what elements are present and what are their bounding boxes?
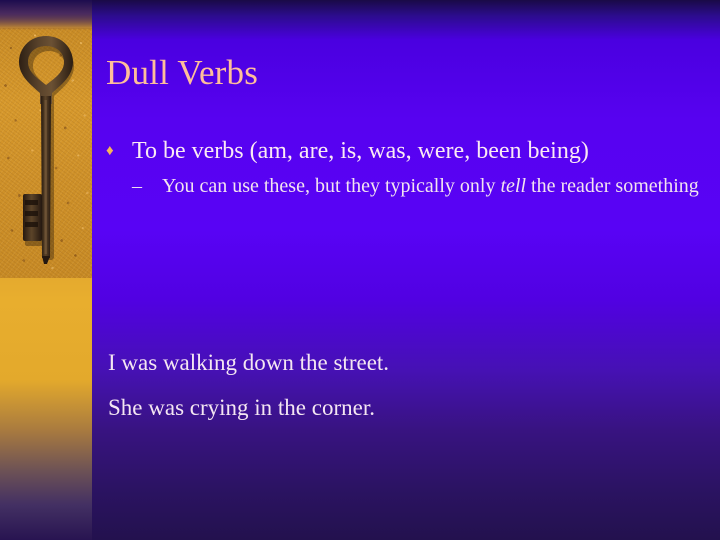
bullet-level2: – You can use these, but they typically …: [104, 173, 700, 200]
bullet-level2-italic-word: tell: [500, 175, 526, 197]
bullet-level1-text: To be verbs (am, are, is, was, were, bee…: [132, 138, 589, 164]
bullet-level2-text-before: You can use these, but they typically on…: [162, 175, 500, 197]
slide-canvas: Dull Verbs ♦ To be verbs (am, are, is, w…: [0, 0, 720, 540]
skeleton-key-icon: [14, 34, 78, 266]
example-line-1: I was walking down the street.: [108, 340, 668, 385]
bullet-level1: ♦ To be verbs (am, are, is, was, were, b…: [104, 136, 700, 167]
example-sentences: I was walking down the street. She was c…: [108, 340, 668, 430]
sidebar-decoration: [0, 0, 92, 540]
example-line-2: She was crying in the corner.: [108, 385, 668, 430]
sidebar-top-gradient: [0, 0, 92, 30]
bullet-level2-text-after: the reader something: [526, 175, 699, 197]
diamond-bullet-icon: ♦: [106, 136, 114, 167]
body-content: ♦ To be verbs (am, are, is, was, were, b…: [104, 136, 700, 200]
page-title: Dull Verbs: [106, 52, 258, 94]
dash-bullet-icon: –: [132, 173, 142, 200]
